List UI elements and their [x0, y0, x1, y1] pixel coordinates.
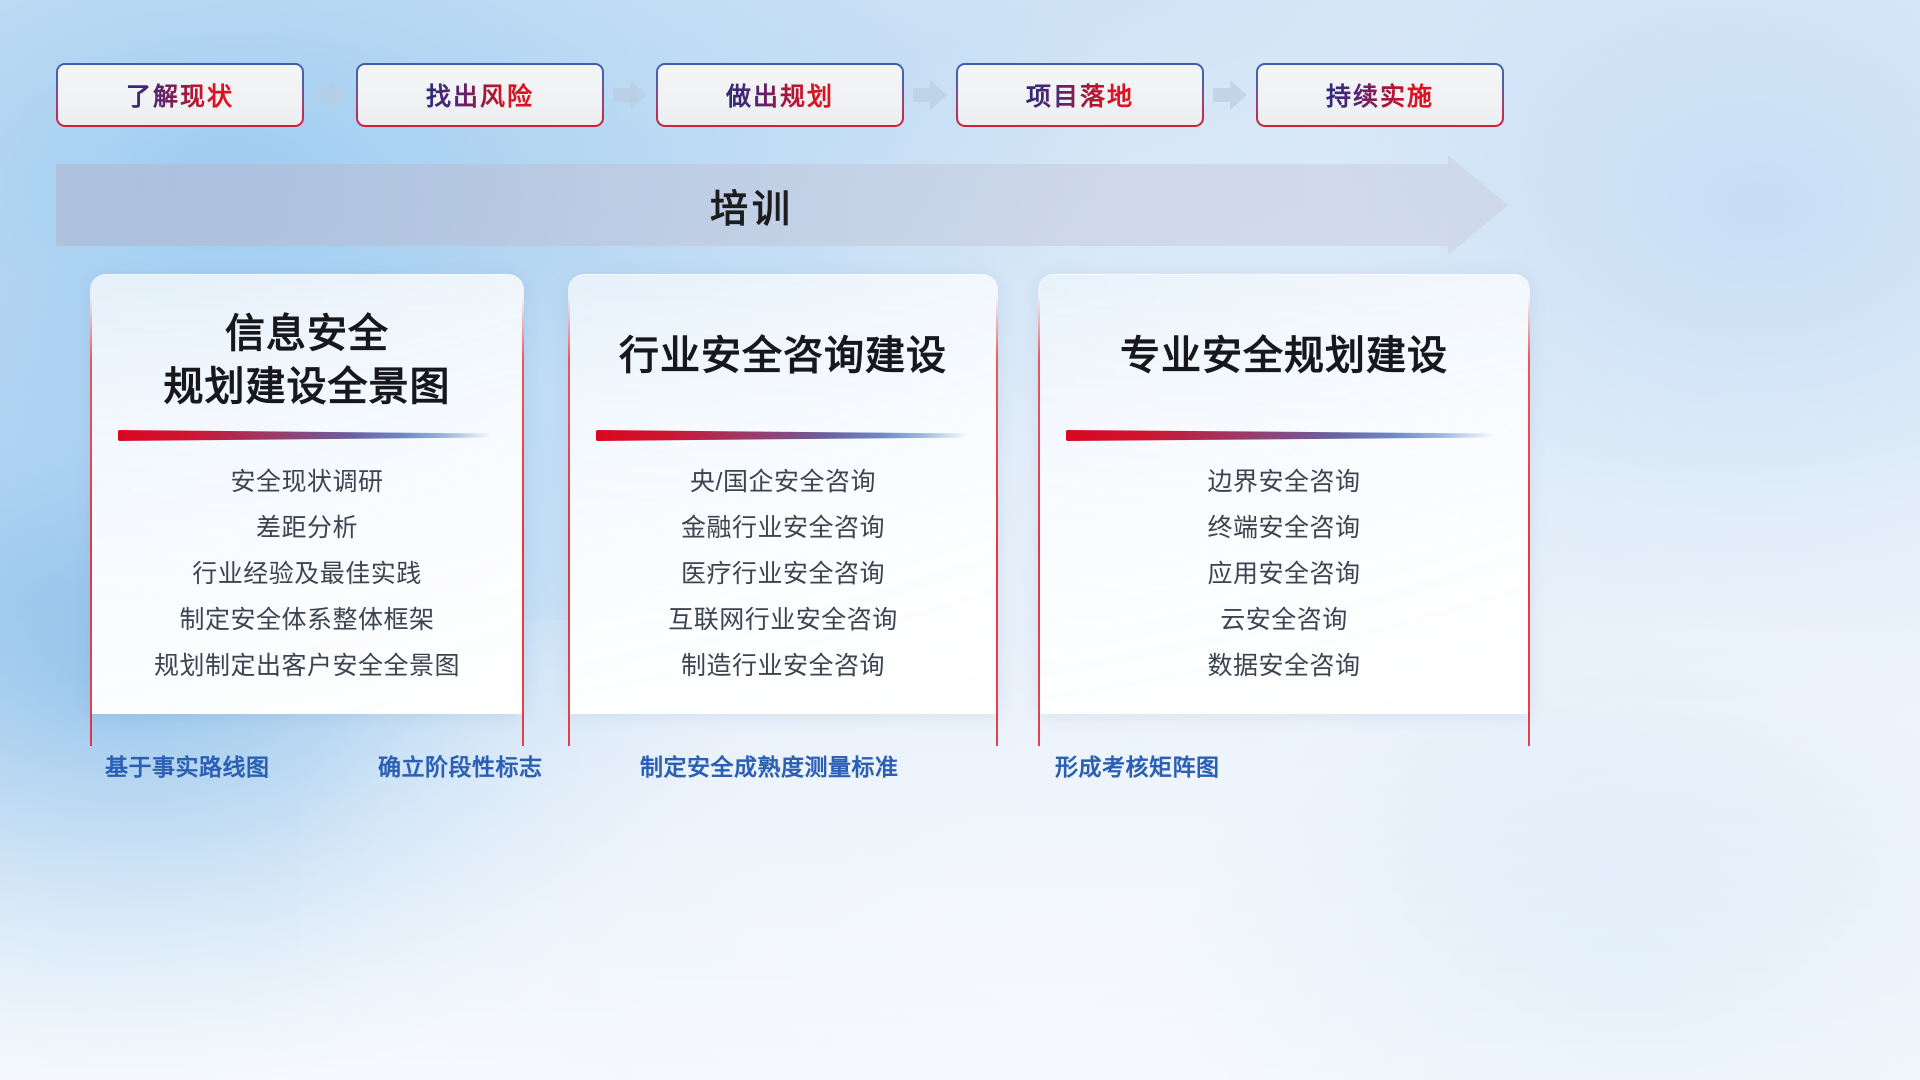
- card-row: 信息安全 规划建设全景图 安全现状调研 差距分析 行业经验及最佳实践 制定安全体…: [90, 274, 1530, 714]
- card-professional-security-planning[interactable]: 专业安全规划建设 边界安全咨询 终端安全咨询 应用安全咨询 云安全咨询 数据安全…: [1038, 274, 1530, 714]
- process-step-2[interactable]: 找出风险: [356, 63, 604, 127]
- process-step-1-inner: 了解现状: [58, 65, 302, 125]
- list-item: 制造行业安全咨询: [568, 654, 998, 679]
- caption-milestones: 确立阶段性标志: [378, 748, 543, 782]
- list-item: 医疗行业安全咨询: [568, 562, 998, 587]
- list-item: 边界安全咨询: [1038, 470, 1530, 495]
- process-step-4[interactable]: 项目落地: [956, 63, 1204, 127]
- card-2-list: 央/国企安全咨询 金融行业安全咨询 医疗行业安全咨询 互联网行业安全咨询 制造行…: [568, 470, 998, 700]
- training-banner: 培训: [56, 164, 1508, 246]
- caption-roadmap: 基于事实路线图: [105, 748, 270, 782]
- card-3-divider: [1066, 430, 1494, 441]
- process-step-4-inner: 项目落地: [958, 65, 1202, 125]
- card-1-divider: [118, 430, 492, 441]
- caption-assessment-matrix: 形成考核矩阵图: [1055, 748, 1220, 782]
- process-step-1[interactable]: 了解现状: [56, 63, 304, 127]
- list-item: 云安全咨询: [1038, 608, 1530, 633]
- card-information-security-blueprint[interactable]: 信息安全 规划建设全景图 安全现状调研 差距分析 行业经验及最佳实践 制定安全体…: [90, 274, 524, 714]
- caption-maturity-standard: 制定安全成熟度测量标准: [640, 748, 899, 782]
- list-item: 行业经验及最佳实践: [90, 562, 524, 587]
- card-1-list: 安全现状调研 差距分析 行业经验及最佳实践 制定安全体系整体框架 规划制定出客户…: [90, 470, 524, 700]
- process-step-2-inner: 找出风险: [358, 65, 602, 125]
- list-item: 数据安全咨询: [1038, 654, 1530, 679]
- process-step-5[interactable]: 持续实施: [1256, 63, 1504, 127]
- list-item: 互联网行业安全咨询: [568, 608, 998, 633]
- process-step-row: 了解现状 找出风险 做出规划 项目落地 持续实施: [56, 62, 1504, 128]
- card-industry-security-consulting[interactable]: 行业安全咨询建设 央/国企安全咨询 金融行业安全咨询 医疗行业安全咨询 互联网行…: [568, 274, 998, 714]
- arrow-right-icon-4: [1213, 80, 1247, 110]
- list-item: 应用安全咨询: [1038, 562, 1530, 587]
- arrow-right-icon-3: [913, 80, 947, 110]
- training-banner-label: 培训: [56, 164, 1448, 246]
- process-step-2-label: 找出风险: [426, 77, 534, 113]
- list-item: 制定安全体系整体框架: [90, 608, 524, 633]
- process-step-5-inner: 持续实施: [1258, 65, 1502, 125]
- list-item: 安全现状调研: [90, 470, 524, 495]
- card-1-title: 信息安全 规划建设全景图: [90, 308, 524, 414]
- list-item: 金融行业安全咨询: [568, 516, 998, 541]
- process-step-3-label: 做出规划: [726, 77, 834, 113]
- process-step-1-label: 了解现状: [126, 77, 234, 113]
- process-step-3-inner: 做出规划: [658, 65, 902, 125]
- training-banner-arrowhead-icon: [1448, 155, 1508, 255]
- caption-row: 基于事实路线图 确立阶段性标志 制定安全成熟度测量标准 形成考核矩阵图: [0, 748, 1920, 788]
- card-3-title: 专业安全规划建设: [1038, 330, 1530, 383]
- card-2-divider: [596, 430, 968, 441]
- slide-stage: 了解现状 找出风险 做出规划 项目落地 持续实施: [0, 0, 1920, 1080]
- card-2-title: 行业安全咨询建设: [568, 330, 998, 383]
- process-step-4-label: 项目落地: [1026, 77, 1134, 113]
- arrow-right-icon-1: [313, 80, 347, 110]
- process-step-5-label: 持续实施: [1326, 77, 1434, 113]
- arrow-right-icon-2: [613, 80, 647, 110]
- list-item: 央/国企安全咨询: [568, 470, 998, 495]
- card-3-list: 边界安全咨询 终端安全咨询 应用安全咨询 云安全咨询 数据安全咨询: [1038, 470, 1530, 700]
- list-item: 差距分析: [90, 516, 524, 541]
- list-item: 终端安全咨询: [1038, 516, 1530, 541]
- list-item: 规划制定出客户安全全景图: [90, 654, 524, 679]
- process-step-3[interactable]: 做出规划: [656, 63, 904, 127]
